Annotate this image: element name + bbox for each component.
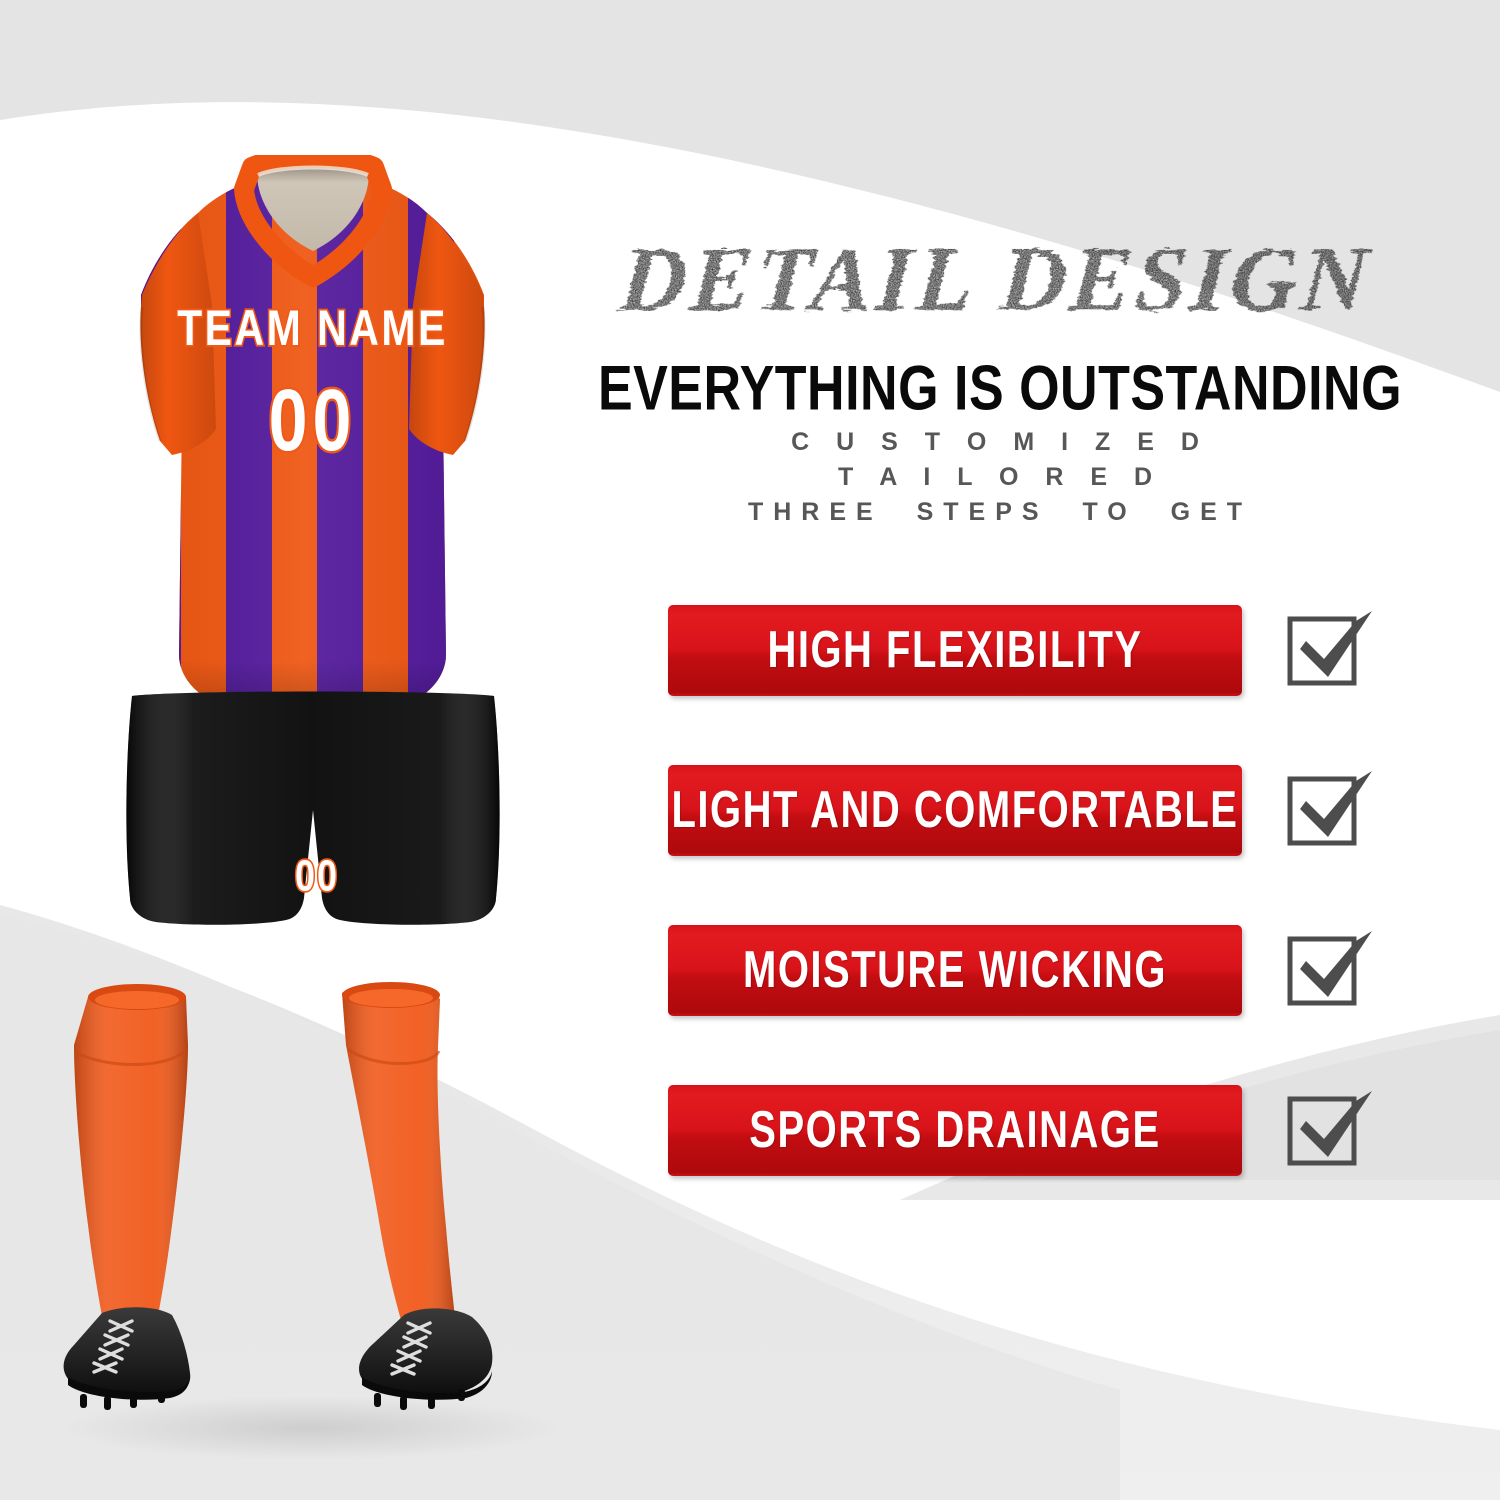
page-title-text: DETAIL DESIGN	[616, 228, 1376, 330]
feature-banner-sports-drainage[interactable]: SPORTS DRAINAGE	[668, 1085, 1242, 1176]
feature-list: HIGH FLEXIBILITY LIGHT AND COMFORTABLE M…	[668, 605, 1458, 1245]
feature-row: MOISTURE WICKING	[668, 925, 1458, 1016]
feature-row: HIGH FLEXIBILITY	[668, 605, 1458, 696]
tagline-line-1: C U S T O M I Z E D	[560, 425, 1440, 460]
feature-label: SPORTS DRAINAGE	[749, 1101, 1160, 1160]
page-subtitle: EVERYTHING IS OUTSTANDING	[560, 352, 1440, 425]
feature-label: LIGHT AND COMFORTABLE	[672, 781, 1239, 840]
tagline-group: C U S T O M I Z E D T A I L O R E D THRE…	[560, 425, 1440, 530]
feature-banner-moisture-wicking[interactable]: MOISTURE WICKING	[668, 925, 1242, 1016]
marketing-content: DETAIL DESIGN EVERYTHING IS OUTSTANDING …	[560, 0, 1500, 1500]
tagline-line-2: T A I L O R E D	[560, 460, 1440, 495]
checkbox-checked-icon[interactable]	[1282, 917, 1374, 1013]
checkbox-checked-icon[interactable]	[1282, 597, 1374, 693]
tagline-line-3: THREE STEPS TO GET	[560, 495, 1440, 530]
feature-row: LIGHT AND COMFORTABLE	[668, 765, 1458, 856]
checkbox-checked-icon[interactable]	[1282, 757, 1374, 853]
feature-row: SPORTS DRAINAGE	[668, 1085, 1458, 1176]
checkbox-checked-icon[interactable]	[1282, 1077, 1374, 1173]
feature-banner-light-and-comfortable[interactable]: LIGHT AND COMFORTABLE	[668, 765, 1242, 856]
feature-label: HIGH FLEXIBILITY	[767, 621, 1142, 680]
product-showcase: TEAM NAME 00 00	[0, 0, 620, 1500]
feature-label: MOISTURE WICKING	[743, 941, 1167, 1000]
jersey-image: TEAM NAME 00	[80, 155, 545, 715]
feature-banner-high-flexibility[interactable]: HIGH FLEXIBILITY	[668, 605, 1242, 696]
shorts-number: 00	[277, 851, 357, 901]
socks-and-shoes-image	[60, 975, 560, 1445]
page-title: DETAIL DESIGN	[560, 226, 1440, 338]
